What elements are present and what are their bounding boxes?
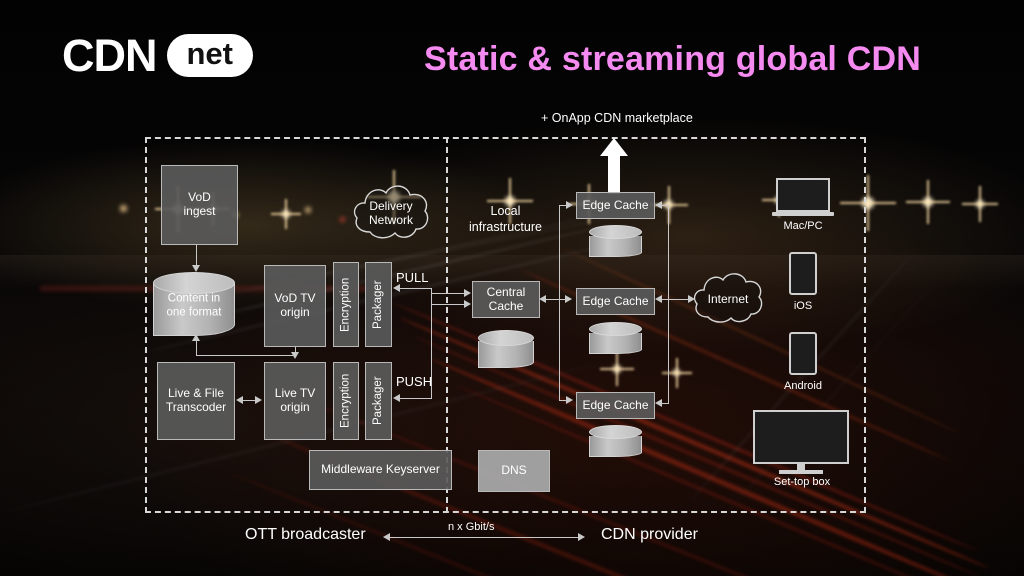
edge-live-to-store-h — [196, 355, 296, 356]
node-vod-tv-origin-label: VoD TV origin — [274, 292, 315, 320]
node-internet-label: Internet — [690, 266, 766, 332]
node-middleware-keyserver-label: Middleware Keyserver — [321, 463, 440, 477]
edge-spine-to-edge3-arrow — [566, 396, 573, 404]
node-packager-live-label: Packager — [372, 377, 385, 426]
page-title: Static & streaming global CDN — [424, 40, 921, 79]
node-edge-cache-2[interactable]: Edge Cache — [576, 288, 655, 315]
node-packager-live[interactable]: Packager — [365, 362, 392, 440]
node-encryption-live-label: Encryption — [339, 374, 352, 428]
footer-link-line — [390, 537, 580, 538]
footer-link-arrow-left — [383, 533, 390, 541]
footer-link-label: n x Gbit/s — [448, 521, 494, 533]
slide: CDN net Static & streaming global CDN + … — [0, 0, 1024, 576]
node-edge-cache-1[interactable]: Edge Cache — [576, 192, 655, 219]
node-encryption-vod-label: Encryption — [339, 277, 352, 331]
edge-pull-arrow — [393, 284, 400, 292]
edge-central-to-edge2-arrow-r — [565, 295, 572, 303]
footer-right-label: CDN provider — [601, 526, 698, 544]
node-edge-cache-1-storage[interactable] — [589, 225, 642, 257]
footer-link-arrow-right — [578, 533, 585, 541]
edge-push-h — [400, 398, 432, 399]
node-edge-cache-1-label: Edge Cache — [582, 199, 648, 213]
node-central-cache[interactable]: Central Cache — [472, 281, 540, 318]
phone-icon — [789, 332, 817, 375]
edge-spine-to-edge1-arrow — [566, 201, 573, 209]
device-ios[interactable]: iOS — [789, 252, 819, 314]
edge-spine-right — [668, 205, 669, 403]
node-live-tv-origin[interactable]: Live TV origin — [264, 362, 326, 440]
node-edge-cache-3[interactable]: Edge Cache — [576, 392, 655, 419]
node-delivery-network-label: Delivery Network — [350, 178, 432, 248]
edge-transcoder-origin-arrow-left — [236, 396, 243, 404]
device-android[interactable]: Android — [789, 332, 819, 394]
node-central-cache-label: Central Cache — [487, 286, 526, 314]
laptop-icon — [776, 178, 830, 212]
edge-bus-to-central-a — [431, 293, 465, 294]
node-delivery-network-cloud[interactable]: Delivery Network — [350, 178, 432, 248]
node-internet-cloud[interactable]: Internet — [690, 266, 766, 332]
edge-central-to-edge2-arrow-l — [539, 295, 546, 303]
device-set-top-box[interactable]: Set-top box — [753, 410, 851, 480]
edge-bus-to-central-b — [431, 304, 465, 305]
device-set-top-box-label: Set-top box — [774, 476, 830, 488]
node-edge-cache-3-storage[interactable] — [589, 425, 642, 457]
edge-spine-left — [559, 205, 560, 400]
node-vod-ingest-label: VoD ingest — [183, 191, 215, 219]
edge-internet-to-edge3 — [662, 403, 669, 404]
phone-icon — [789, 252, 817, 295]
edge-internet-to-edge3-arrow — [655, 399, 662, 407]
node-middleware-keyserver[interactable]: Middleware Keyserver — [309, 450, 452, 490]
node-live-tv-origin-label: Live TV origin — [275, 387, 315, 415]
edge-bus-to-central-arrow-a — [464, 289, 471, 297]
edge-ingest-to-store-arrow — [192, 265, 200, 272]
edge-bus-to-central-arrow-b — [464, 300, 471, 308]
edge-pull-h — [400, 288, 432, 289]
node-edge-cache-2-storage[interactable] — [589, 322, 642, 354]
edge-internet-to-edge2-arrow-l — [655, 295, 662, 303]
edge-ingest-to-store — [196, 245, 197, 266]
node-dns-label: DNS — [501, 464, 526, 478]
node-edge-cache-2-label: Edge Cache — [582, 295, 648, 309]
device-ios-label: iOS — [794, 300, 812, 312]
edge-transcoder-origin-arrow-right — [255, 396, 262, 404]
node-content-store[interactable]: Content in one format — [153, 272, 235, 336]
edge-push-arrow — [393, 394, 400, 402]
node-vod-tv-origin[interactable]: VoD TV origin — [264, 265, 326, 347]
edge-internet-to-edge2-arrow-r — [688, 295, 695, 303]
device-mac-pc[interactable]: Mac/PC — [772, 178, 834, 224]
edge-live-to-store-arrow — [192, 334, 200, 341]
marketplace-arrow-icon — [600, 138, 628, 194]
logo-text: CDN — [62, 33, 157, 78]
node-vod-ingest[interactable]: VoD ingest — [161, 165, 238, 245]
node-live-file-transcoder-label: Live & File Transcoder — [166, 387, 226, 415]
local-infrastructure-label: Local infrastructure — [469, 204, 542, 235]
logo-badge: net — [167, 34, 254, 77]
footer-left-label: OTT broadcaster — [245, 526, 366, 544]
node-central-cache-storage[interactable] — [478, 330, 534, 368]
pull-label: PULL — [396, 270, 429, 285]
node-content-store-label: Content in one format — [153, 292, 235, 320]
edge-internet-to-edge1-arrow — [655, 201, 662, 209]
tv-icon — [753, 410, 849, 464]
node-packager-vod-label: Packager — [372, 280, 385, 329]
node-encryption-vod[interactable]: Encryption — [333, 262, 359, 347]
device-mac-pc-label: Mac/PC — [783, 220, 822, 232]
device-android-label: Android — [784, 380, 822, 392]
node-dns[interactable]: DNS — [478, 450, 550, 492]
node-packager-vod[interactable]: Packager — [365, 262, 392, 347]
node-live-file-transcoder[interactable]: Live & File Transcoder — [157, 362, 235, 440]
edge-internet-to-edge1 — [662, 205, 669, 206]
node-edge-cache-3-label: Edge Cache — [582, 399, 648, 413]
push-label: PUSH — [396, 374, 432, 389]
node-encryption-live[interactable]: Encryption — [333, 362, 359, 440]
logo: CDN net — [62, 33, 253, 78]
onapp-marketplace-label: + OnApp CDN marketplace — [541, 111, 693, 125]
edge-live-to-store-v — [196, 340, 197, 355]
